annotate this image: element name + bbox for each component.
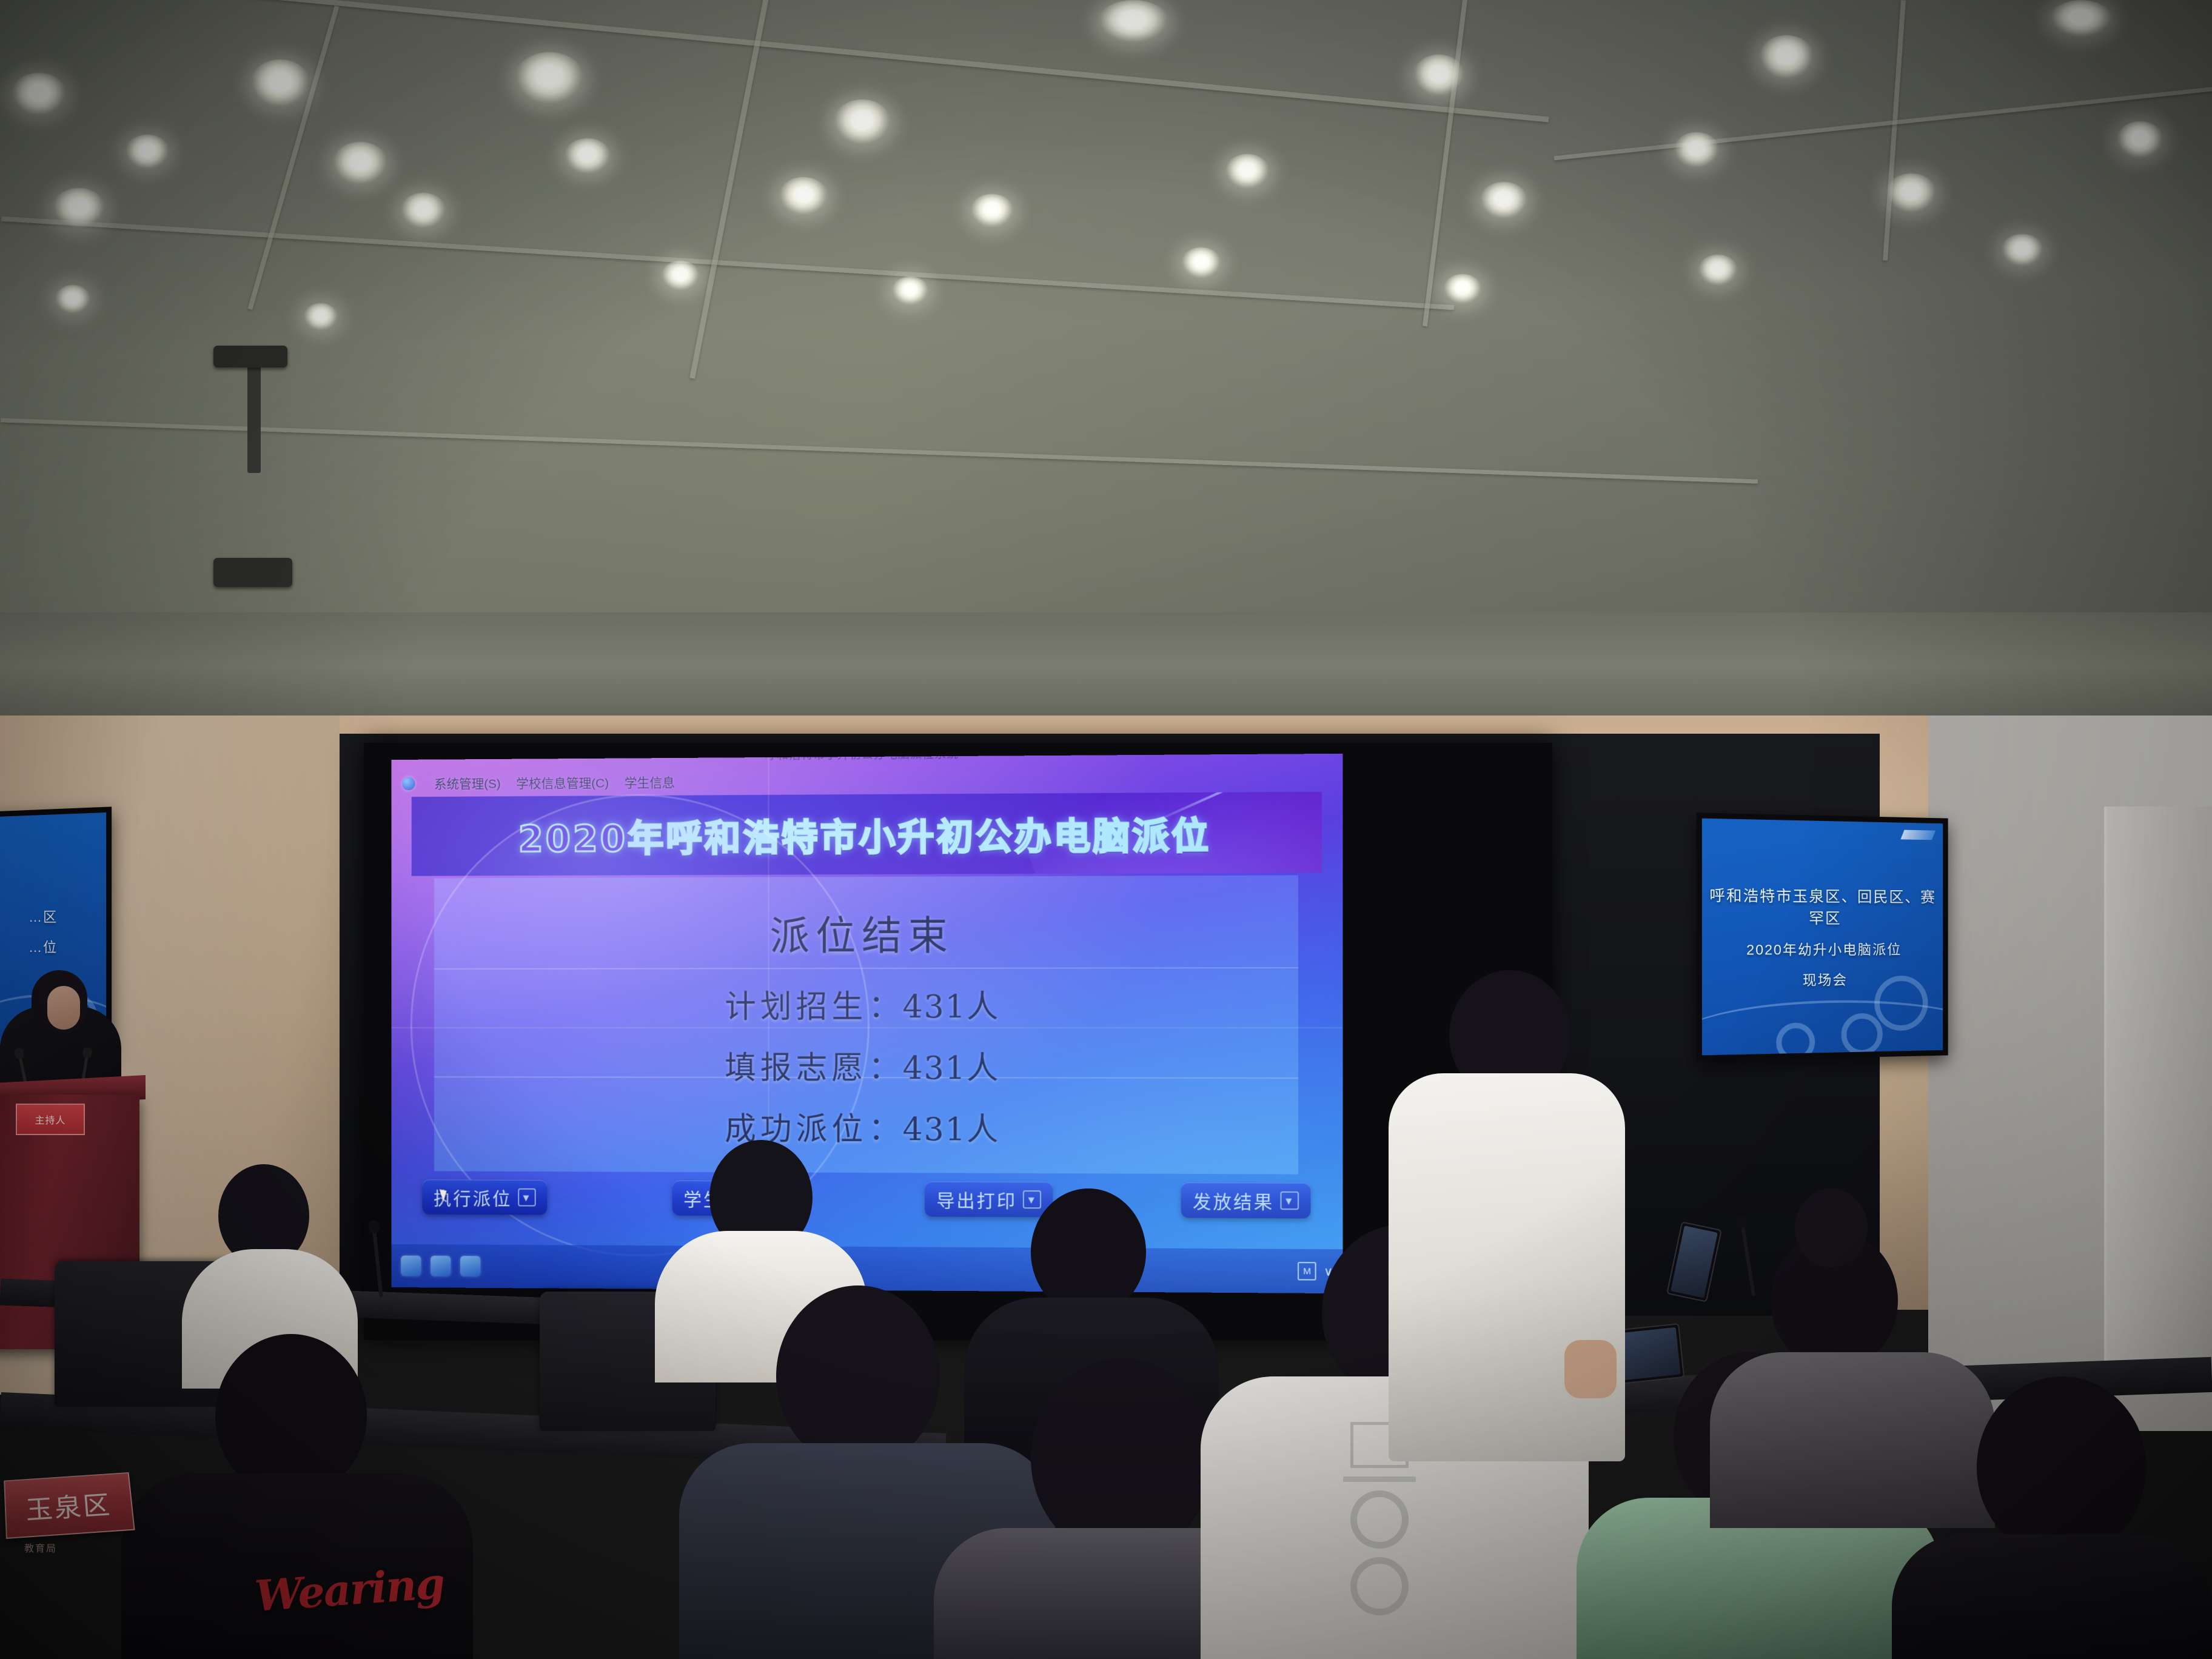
browser-icon[interactable] [401, 1256, 421, 1276]
ceiling-light [2049, 0, 2113, 38]
ceiling-light [2116, 121, 2163, 159]
ceiling-light [332, 142, 388, 186]
ceiling-light [125, 135, 170, 170]
screen-seam [392, 1027, 1343, 1028]
right-door-panel [2104, 806, 2212, 1382]
projector-body [213, 558, 292, 587]
desk-placard-sublabel: 教育局 [24, 1540, 57, 1555]
audience-head [1977, 1376, 2147, 1558]
projector-head [213, 346, 287, 367]
action-button-row: 执行派位 ▾ 学生信息 ▾ 导出打印 ▾ 发放结果 ▾ [422, 1179, 1310, 1218]
tv-event-label: 现场会 [1803, 968, 1848, 990]
ceiling-light [1674, 132, 1720, 169]
speaker-face [47, 986, 80, 1030]
standing-man-hand [1564, 1340, 1617, 1398]
ceiling-light [833, 99, 891, 146]
chevron-down-icon[interactable]: ▾ [1023, 1190, 1041, 1208]
placard-label: 玉泉区 [25, 1484, 113, 1527]
right-wall-tv: 呼和浩特市玉泉区、回民区、赛罕区 2020年幼升小电脑派位 现场会 [1697, 813, 1948, 1061]
execute-allocation-button[interactable]: 执行派位 ▾ [422, 1179, 547, 1215]
result-colon: ： [868, 981, 900, 1027]
projection-screen: 呼和浩特市小升初公办电脑派位系统 系统管理(S) 学校信息管理(C) 学生信息 … [392, 754, 1343, 1293]
drive-icon[interactable] [460, 1256, 480, 1276]
tray-input-method-icon[interactable]: M [1298, 1262, 1316, 1281]
result-colon: ： [868, 1042, 900, 1088]
projector-mount-pole [247, 361, 261, 473]
tv-subline-partial: …位 [28, 936, 58, 956]
audience-head [1795, 1188, 1868, 1267]
ceiling-light [661, 261, 700, 291]
result-colon: ： [868, 1104, 900, 1149]
ceiling-light [11, 73, 67, 116]
ceiling-light [1225, 154, 1270, 189]
menu-item-system[interactable]: 系统管理(S) [434, 774, 501, 793]
release-results-button[interactable]: 发放结果 ▾ [1181, 1182, 1311, 1218]
podium-nameplate: 主持人 [16, 1104, 85, 1135]
ring-graphic-icon [1350, 1490, 1409, 1549]
audience-head [1031, 1188, 1146, 1316]
ceiling-light [400, 193, 446, 229]
chevron-down-icon[interactable]: ▾ [518, 1188, 535, 1207]
app-globe-icon [402, 777, 415, 790]
audience-head [776, 1285, 940, 1467]
audience-shoulders [1710, 1352, 1995, 1528]
tv-headline: 呼和浩特市玉泉区、回民区、赛罕区 [1702, 883, 1943, 928]
ceiling-light [779, 177, 828, 216]
result-value: 431人 [902, 1042, 999, 1088]
ceiling-light [1758, 35, 1814, 80]
export-print-button[interactable]: 导出打印 ▾ [925, 1181, 1053, 1217]
ceiling-light [1181, 247, 1221, 279]
ceiling-light [514, 52, 585, 106]
result-label: 填报志愿 [725, 1042, 867, 1088]
button-label: 发放结果 [1193, 1187, 1274, 1214]
right-tv-screen: 呼和浩特市玉泉区、回民区、赛罕区 2020年幼升小电脑派位 现场会 [1702, 819, 1943, 1056]
ceiling-light [1698, 255, 1738, 286]
ring-graphic-icon [1350, 1557, 1409, 1615]
ceiling-light [970, 194, 1014, 228]
result-value: 431人 [902, 981, 999, 1027]
ceiling-light [1413, 55, 1465, 97]
ceiling-light [2001, 234, 2043, 267]
result-value: 431人 [902, 1104, 999, 1150]
result-row-applied: 填报志愿 ： 431人 [725, 1042, 999, 1088]
button-label: 导出打印 [936, 1185, 1017, 1213]
tv-headline-partial: …区 [28, 905, 58, 926]
ceiling-light [891, 276, 929, 306]
ceiling-light [1480, 182, 1528, 220]
tv-subline: 2020年幼升小电脑派位 [1746, 938, 1902, 959]
ceiling-light [1443, 274, 1482, 304]
result-row-planned: 计划招生 ： 431人 [725, 981, 999, 1027]
wave-decor [1702, 999, 1943, 1056]
result-label: 计划招生 [725, 981, 867, 1027]
ceiling-light [303, 303, 338, 331]
ceiling-light [55, 285, 91, 314]
menu-item-student-info[interactable]: 学生信息 [625, 773, 675, 791]
audience-shoulders [1892, 1534, 2212, 1659]
desk-placard-yuquan: 玉泉区 [4, 1472, 135, 1539]
ceiling-light [1886, 173, 1937, 213]
chevron-down-icon[interactable]: ▾ [1280, 1191, 1299, 1210]
standing-man-torso [1389, 1073, 1625, 1461]
ceiling-light [52, 188, 106, 229]
shield-icon[interactable] [431, 1256, 451, 1276]
result-heading: 派位结束 [434, 902, 1298, 962]
ceiling-light [564, 138, 611, 175]
result-rows: 计划招生 ： 431人 填报志愿 ： 431人 成功派位 ： 431人 [434, 980, 1298, 1150]
menu-item-school-info[interactable]: 学校信息管理(C) [516, 774, 609, 793]
ceiling-light [1098, 0, 1169, 44]
bar-graphic-icon [1343, 1476, 1416, 1482]
result-card: 派位结束 计划招生 ： 431人 填报志愿 ： 431人 成功派位 ： 431人 [434, 875, 1298, 1174]
tv-corner-decor [1900, 830, 1935, 840]
ceiling-light [250, 59, 310, 108]
conference-hall-photo: 呼和浩特市小升初公办电脑派位系统 系统管理(S) 学校信息管理(C) 学生信息 … [0, 0, 2212, 1659]
